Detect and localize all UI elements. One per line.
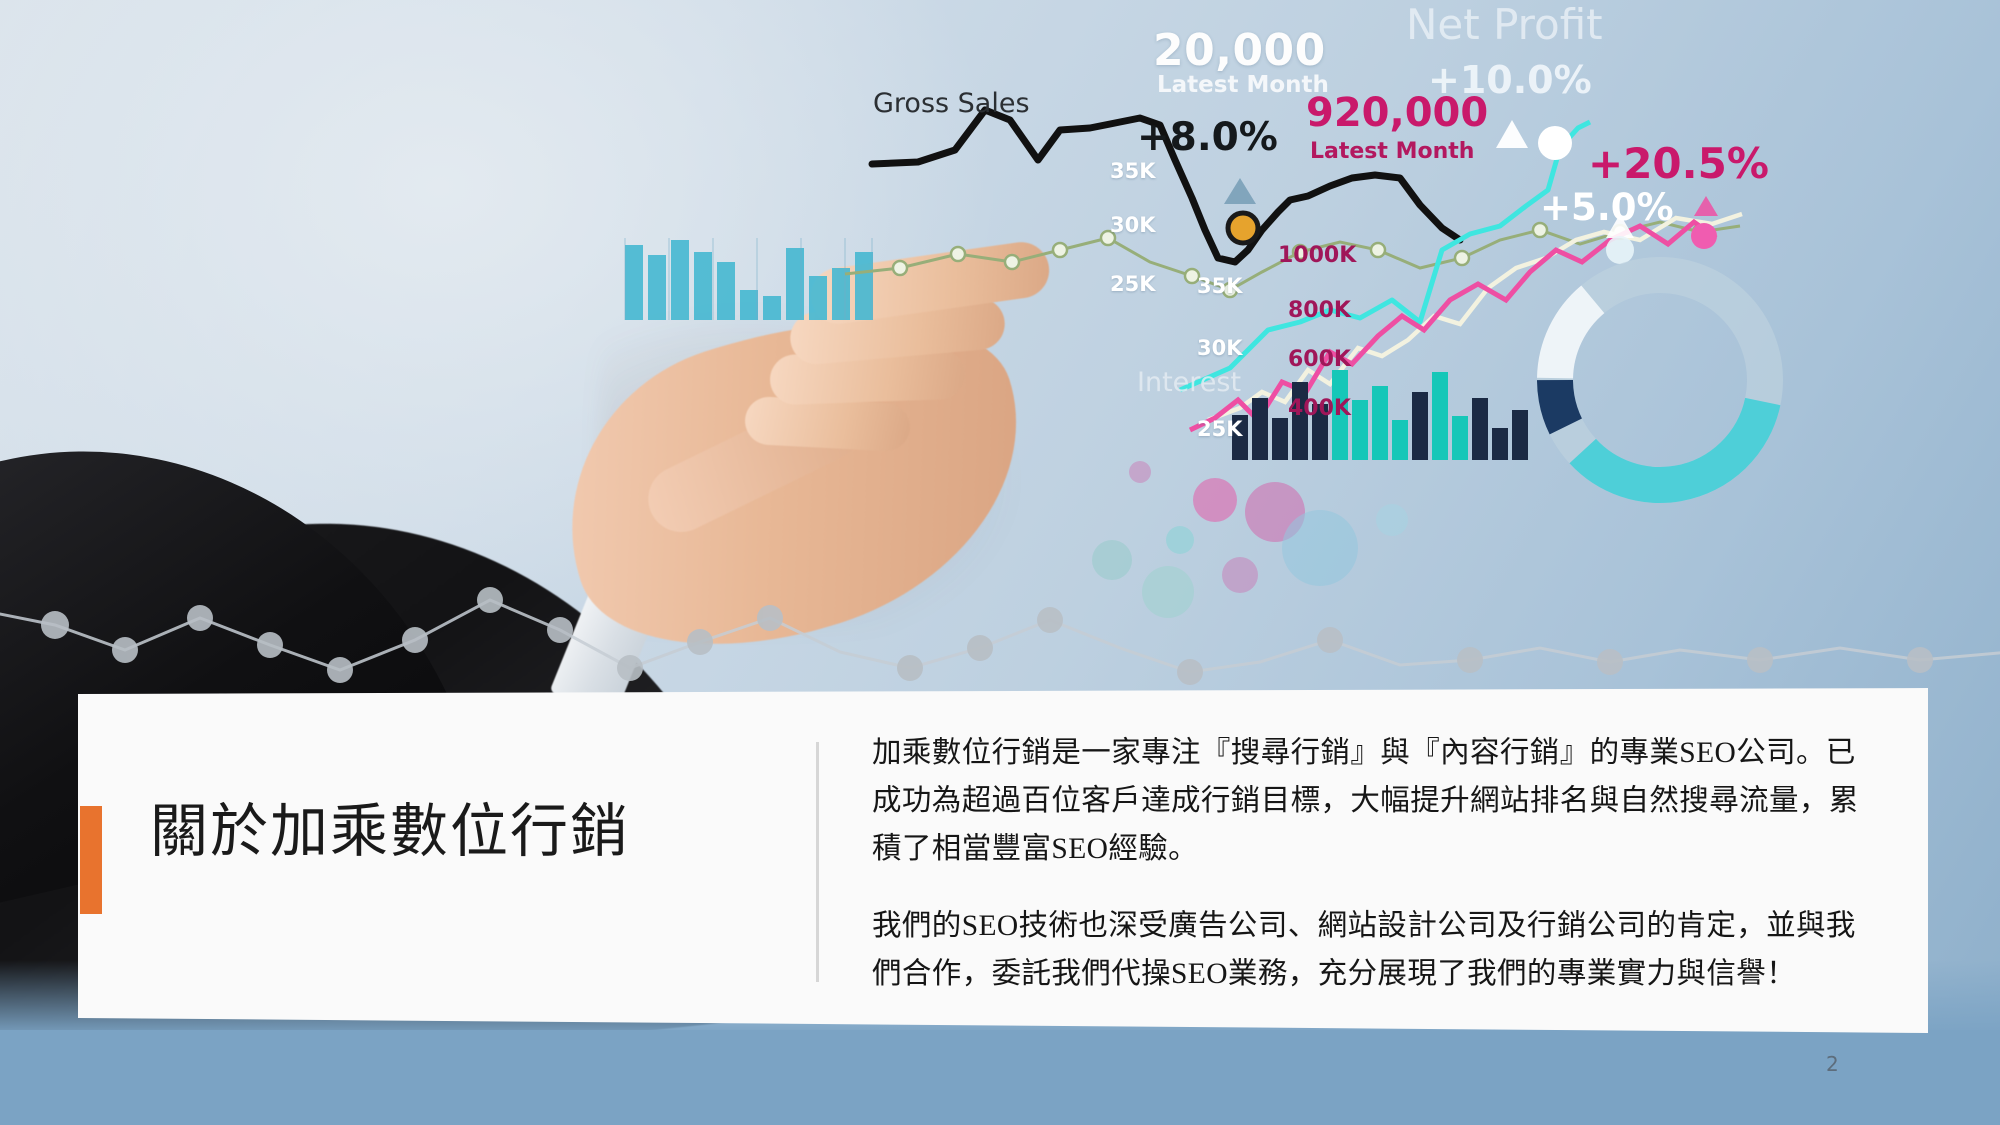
interest-label: Interest — [1137, 367, 1241, 398]
axis-tick-right-0: 1000K — [1278, 243, 1356, 268]
axis-tick-left-2: 25K — [1110, 272, 1156, 296]
slide-root: Gross Sales 20,000 Latest Month +8.0% Ne… — [0, 0, 2000, 1125]
axis-tick-left-0: 35K — [1110, 159, 1156, 183]
latest-month-caption: Latest Month — [1157, 72, 1329, 98]
net-profit-label: Net Profit — [1406, 0, 1603, 49]
orange-accent-bar — [80, 806, 102, 914]
body-text-column: 加乘數位行銷是一家專注『搜尋行銷』與『內容行銷』的專業SEO公司。已成功為超過百… — [872, 730, 1872, 999]
axis-tick-mid-1: 30K — [1197, 336, 1243, 360]
body-paragraph-2: 我們的SEO技術也深受廣告公司、網站設計公司及行銷公司的肯定，並與我們合作，委託… — [872, 903, 1872, 999]
gross-sales-change: +8.0% — [1137, 115, 1278, 160]
revenue-caption: Latest Month — [1310, 139, 1474, 164]
axis-tick-mid-2: 25K — [1197, 417, 1243, 441]
gross-sales-label: Gross Sales — [873, 88, 1030, 119]
axis-tick-left-1: 30K — [1110, 213, 1156, 237]
slide-bottom-band — [0, 1030, 2000, 1125]
revenue-change: +20.5% — [1588, 139, 1769, 188]
page-title: 關於加乘數位行銷 — [150, 800, 790, 864]
page-number: 2 — [1826, 1052, 1839, 1076]
axis-tick-right-2: 600K — [1288, 347, 1351, 372]
revenue-value: 920,000 — [1306, 90, 1488, 136]
body-paragraph-1: 加乘數位行銷是一家專注『搜尋行銷』與『內容行銷』的專業SEO公司。已成功為超過百… — [872, 730, 1872, 873]
axis-tick-right-3: 400K — [1288, 396, 1351, 421]
axis-tick-right-1: 800K — [1288, 298, 1351, 323]
axis-tick-mid-0: 35K — [1197, 274, 1243, 298]
latest-month-value: 20,000 — [1153, 25, 1326, 76]
secondary-change: +5.0% — [1540, 186, 1674, 229]
vertical-divider — [816, 742, 819, 982]
finger-little — [744, 396, 911, 453]
